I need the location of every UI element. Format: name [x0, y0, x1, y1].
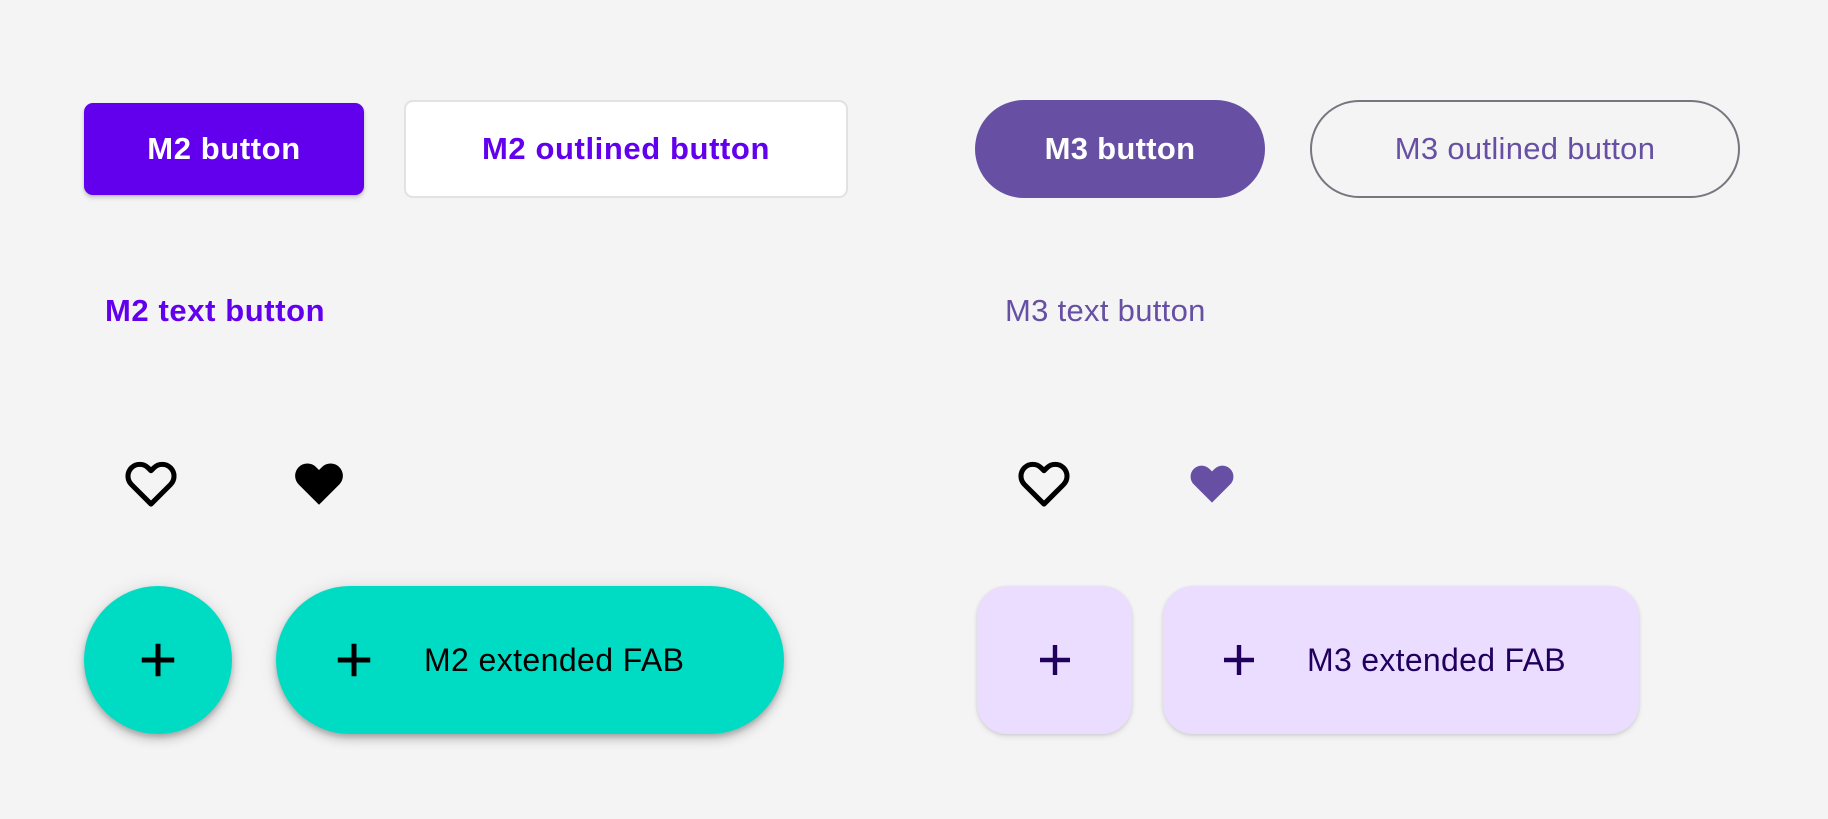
m2-fab-button[interactable] — [84, 586, 232, 734]
plus-icon — [1031, 636, 1079, 684]
m2-filled-button[interactable]: M2 button — [84, 103, 364, 195]
m3-extended-fab-label: M3 extended FAB — [1307, 642, 1566, 679]
m3-fab-button[interactable] — [977, 586, 1132, 734]
plus-icon — [1215, 636, 1263, 684]
m3-favorite-outline-button[interactable] — [1015, 455, 1073, 513]
plus-icon — [132, 634, 184, 686]
m2-text-button[interactable]: M2 text button — [105, 293, 325, 329]
m2-outlined-button[interactable]: M2 outlined button — [404, 100, 848, 198]
m3-text-button[interactable]: M3 text button — [1005, 293, 1206, 329]
plus-icon — [328, 634, 380, 686]
m2-favorite-outline-button[interactable] — [122, 455, 180, 513]
m3-outlined-button[interactable]: M3 outlined button — [1310, 100, 1740, 198]
m2-favorite-filled-button[interactable] — [290, 455, 348, 513]
m2-extended-fab-button[interactable]: M2 extended FAB — [276, 586, 784, 734]
m3-filled-button[interactable]: M3 button — [975, 100, 1265, 198]
component-showcase: M2 button M2 outlined button M2 text but… — [0, 0, 1828, 819]
m3-extended-fab-button[interactable]: M3 extended FAB — [1163, 586, 1639, 734]
heart-filled-icon — [290, 455, 348, 513]
heart-filled-icon — [1186, 458, 1238, 510]
m3-favorite-filled-button[interactable] — [1183, 455, 1241, 513]
heart-outline-icon — [122, 455, 180, 513]
heart-outline-icon — [1015, 455, 1073, 513]
m2-extended-fab-label: M2 extended FAB — [424, 642, 684, 679]
